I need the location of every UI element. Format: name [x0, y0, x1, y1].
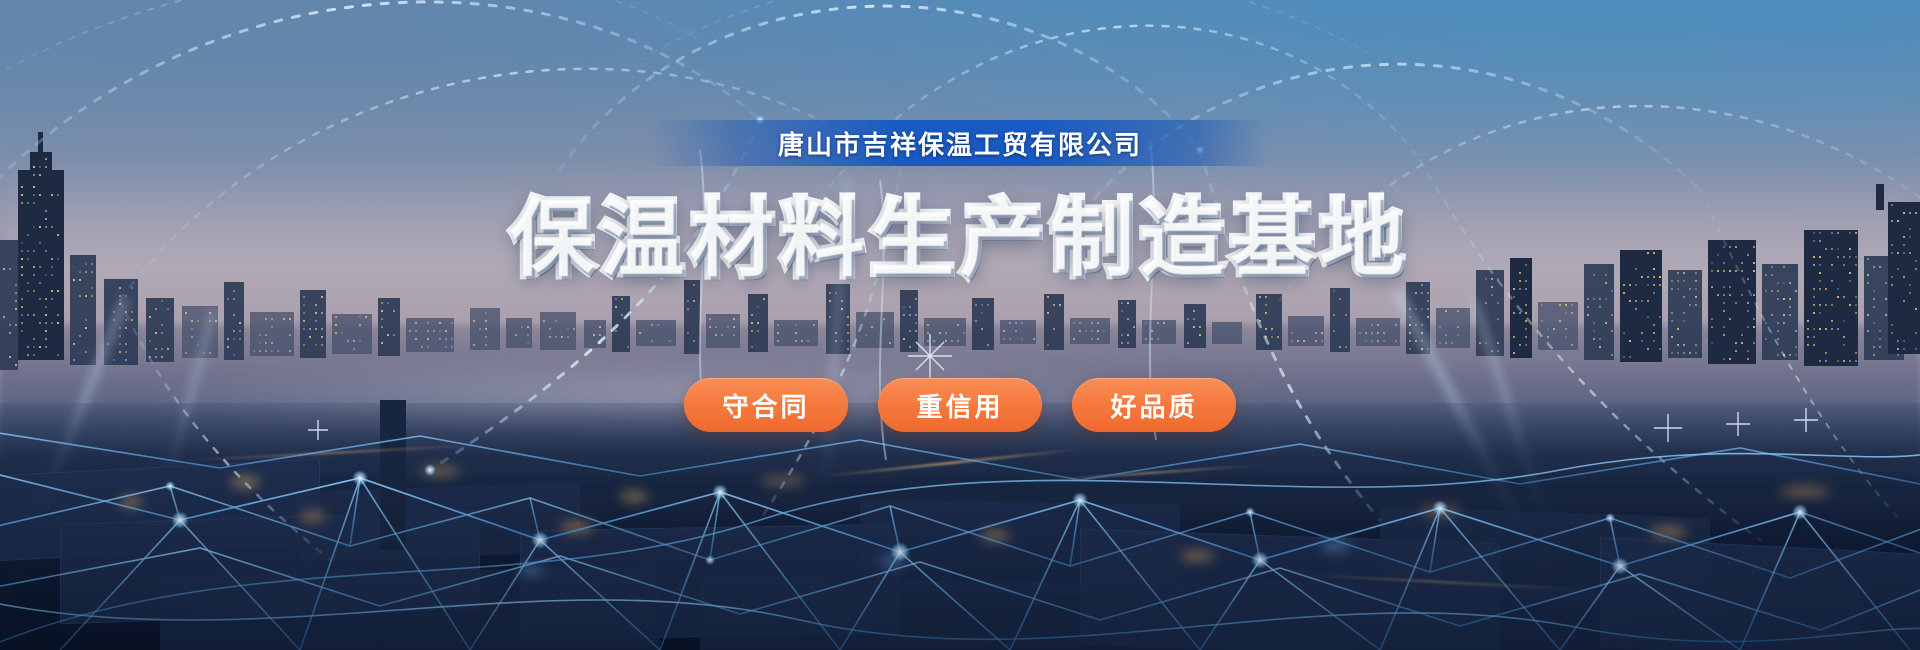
page-title: 保温材料生产制造基地 — [0, 172, 1920, 293]
feature-pill-label: 重信用 — [916, 387, 1003, 424]
feature-pill-group: 守合同 重信用 好品质 — [0, 378, 1920, 432]
banner-copy: 唐山市吉祥保温工贸有限公司 保温材料生产制造基地 守合同 重信用 好品质 — [0, 0, 1920, 650]
company-name-bar: 唐山市吉祥保温工贸有限公司 — [650, 120, 1270, 166]
feature-pill-haopinzhi[interactable]: 好品质 — [1072, 378, 1236, 432]
headline-text: 保温材料生产制造基地 — [510, 192, 1410, 286]
hero-banner: 唐山市吉祥保温工贸有限公司 保温材料生产制造基地 守合同 重信用 好品质 — [0, 0, 1920, 650]
feature-pill-label: 好品质 — [1110, 387, 1197, 424]
feature-pill-label: 守合同 — [722, 387, 809, 424]
feature-pill-zhongxinyong[interactable]: 重信用 — [878, 378, 1042, 432]
feature-pill-shouhetong[interactable]: 守合同 — [684, 378, 848, 432]
company-name-text: 唐山市吉祥保温工贸有限公司 — [778, 125, 1142, 162]
